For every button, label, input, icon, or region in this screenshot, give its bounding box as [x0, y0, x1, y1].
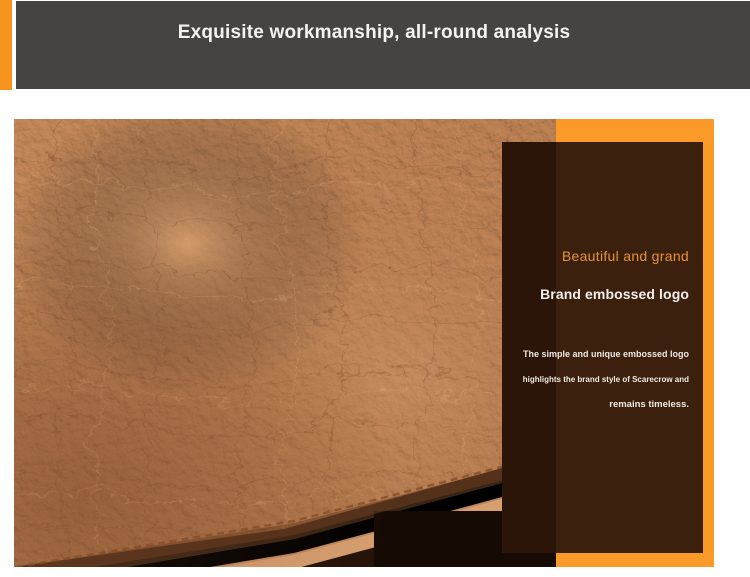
info-body-line-1: The simple and unique embossed logo: [523, 349, 689, 359]
header-accent-bar: [0, 0, 12, 90]
info-eyebrow: Beautiful and grand: [562, 248, 689, 264]
info-body-line-2: highlights the brand style of Scarecrow …: [523, 375, 689, 384]
leather-photo: [14, 119, 556, 567]
product-figure: Beautiful and grand Brand embossed logo …: [14, 119, 714, 567]
page-title: Exquisite workmanship, all-round analysi…: [16, 0, 732, 88]
right-margin: [714, 90, 750, 577]
info-body-line-3: remains timeless.: [609, 399, 689, 410]
info-headline: Brand embossed logo: [540, 286, 689, 302]
info-text-content: Beautiful and grand Brand embossed logo …: [502, 142, 703, 553]
page-header: Exquisite workmanship, all-round analysi…: [0, 0, 750, 90]
bottom-margin: [0, 567, 750, 577]
